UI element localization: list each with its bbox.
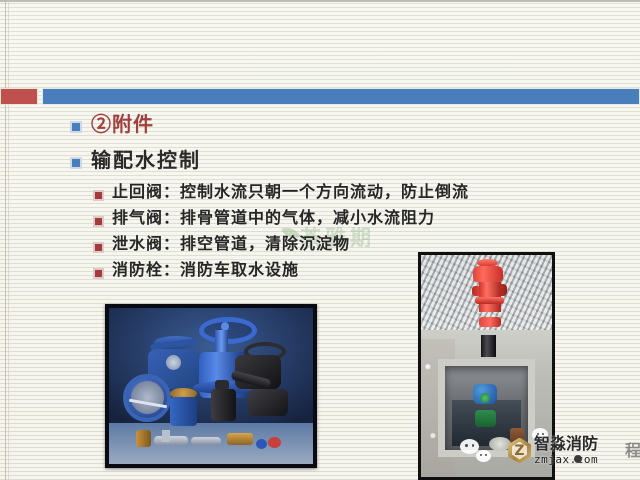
chrome-fitting-2 [154,436,188,445]
list-item-text: 止回阀：控制水流只朝一个方向流动，防止倒流 [112,182,469,201]
heading-row-1: ②附件 [70,112,640,136]
zmjax-logo-icon: Z [508,438,531,464]
logo-text-group: 智淼消防 zmjax.com [534,436,598,465]
list-item-text: 泄水阀：排空管道，清除沉淀物 [112,234,350,253]
list-item: 止回阀：控制水流只朝一个方向流动，防止倒流 [93,182,640,201]
list-item: 消防栓：消防车取水设施 [93,260,640,279]
logo-brand-name: 智淼消防 [534,436,598,452]
header-blue-bar [42,88,640,105]
list-item-text: 消防栓：消防车取水设施 [112,260,299,279]
valves-photo [105,304,317,468]
hydrant-bonnet [473,266,503,282]
heading-2-text: 输配水控制 [91,148,201,172]
list-item: 泄水阀：排空管道，清除沉淀物 [93,234,640,253]
blue-cap [256,439,267,449]
logo-site-url: zmjax.com [534,454,598,465]
site-logo-watermark: Z 智淼消防 zmjax.com [508,436,598,465]
hydrant-riser-pipe [481,335,496,357]
chrome-fitting-2-stem [162,430,170,442]
slide-canvas: 茶雅期 ②附件 输配水控制 止回阀：控制水流只朝一个方向流动，防止倒流 排气阀：… [0,0,640,480]
valves-photo-inner [109,308,313,464]
green-valve-body [475,410,496,427]
gate-valve-stem [215,330,228,352]
square-bullet-red-icon [93,242,104,253]
top-edge-line [0,0,640,2]
brass-fitting-4 [227,433,253,445]
hydrant-flange-ring [475,297,504,304]
list-item-text: 排气阀：排骨管道中的气体，减小水流阻力 [112,208,435,227]
blue-strainer-body [170,397,197,426]
logo-cursor-dot [574,455,582,463]
valve-handwheel-green [480,393,490,403]
list-item: 排气阀：排骨管道中的气体，减小水流阻力 [93,208,640,227]
logo-ghost-char: 程 [625,437,640,461]
square-bullet-red-icon [93,190,104,201]
header-red-block [0,88,38,105]
chrome-fitting-3 [191,437,221,445]
square-bullet-red-icon [93,268,104,279]
bullet-list: 止回阀：控制水流只朝一个方向流动，防止倒流 排气阀：排骨管道中的气体，减小水流阻… [93,182,640,279]
black-valve-body-2 [248,389,288,416]
square-bullet-blue-icon [70,157,82,169]
black-valve-body-3 [211,389,236,421]
hydrant-base [479,317,501,327]
butterfly-valve-disc [166,355,181,370]
square-bullet-red-icon [93,216,104,227]
brass-fitting-1 [136,430,151,447]
heading-row-2: 输配水控制 [70,148,640,172]
heading-1-text: ②附件 [91,112,154,136]
square-bullet-blue-icon [70,121,82,133]
